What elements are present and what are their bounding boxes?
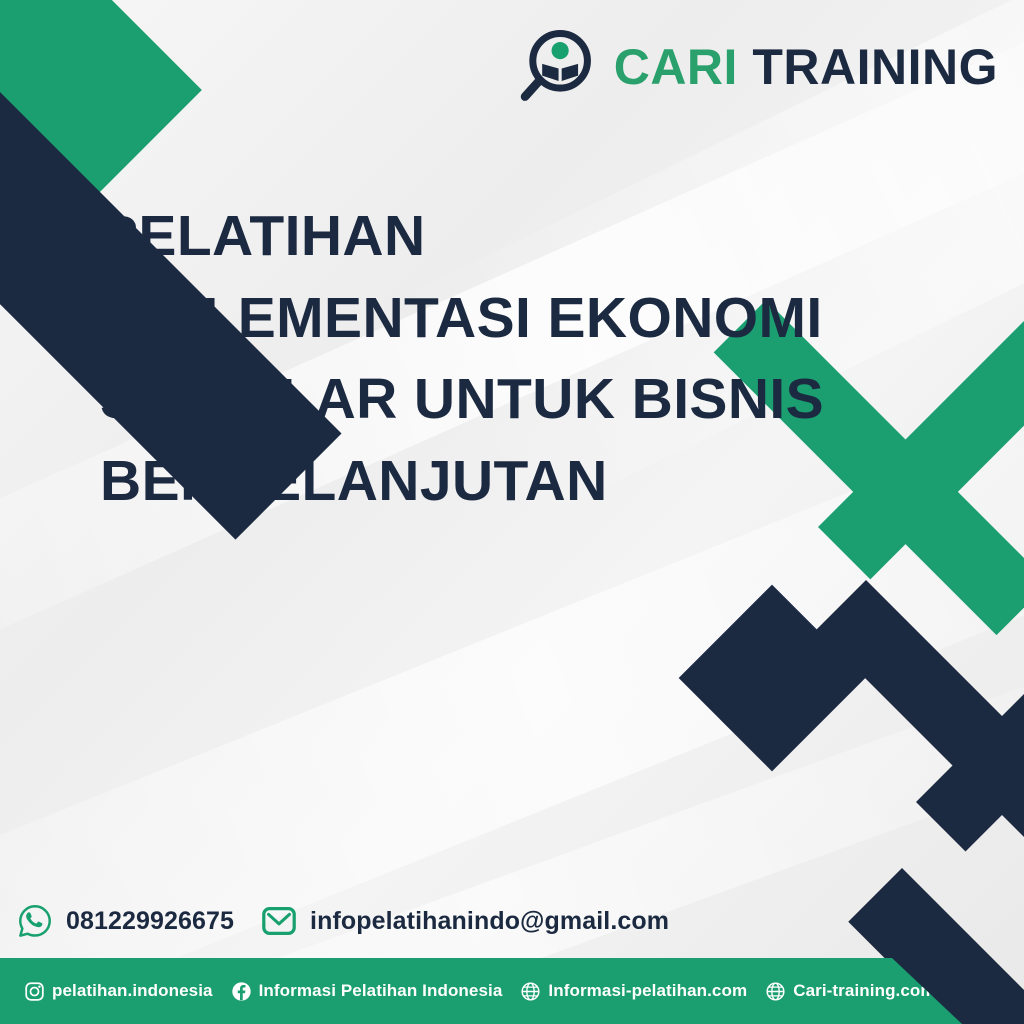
instagram-icon — [24, 981, 45, 1002]
footer-social-list: pelatihan.indonesia Informasi Pelatihan … — [0, 981, 936, 1002]
contact-email[interactable]: infopelatihanindo@gmail.com — [260, 902, 669, 940]
title-line-2: IMPLEMENTASI EKONOMI — [100, 278, 920, 360]
email-address: infopelatihanindo@gmail.com — [310, 907, 669, 936]
footer-bar: pelatihan.indonesia Informasi Pelatihan … — [0, 958, 1024, 1024]
poster-title: PELATIHAN IMPLEMENTASI EKONOMI SIRKULAR … — [100, 196, 920, 522]
globe-icon — [520, 981, 541, 1002]
website-1: Informasi-pelatihan.com — [548, 981, 747, 1001]
logo-word-cari: CARI — [614, 39, 738, 95]
footer-instagram[interactable]: pelatihan.indonesia — [24, 981, 213, 1002]
poster-canvas: CARI TRAINING PELATIHAN IMPLEMENTASI EKO… — [0, 0, 1024, 1024]
whatsapp-icon — [16, 902, 54, 940]
footer-website-2[interactable]: Cari-training.com — [765, 981, 935, 1002]
brand-logo: CARI TRAINING — [518, 28, 998, 106]
globe-icon — [765, 981, 786, 1002]
title-line-3: SIRKULAR UNTUK BISNIS — [100, 359, 920, 441]
title-line-1: PELATIHAN — [100, 196, 920, 278]
title-line-4: BERKELANJUTAN — [100, 441, 920, 523]
footer-website-1[interactable]: Informasi-pelatihan.com — [520, 981, 747, 1002]
footer-facebook[interactable]: Informasi Pelatihan Indonesia — [231, 981, 503, 1002]
facebook-page: Informasi Pelatihan Indonesia — [259, 981, 503, 1001]
logo-wordmark: CARI TRAINING — [614, 42, 998, 92]
contact-row: 081229926675 infopelatihanindo@gmail.com — [16, 902, 669, 940]
logo-word-training: TRAINING — [752, 39, 998, 95]
contact-whatsapp[interactable]: 081229926675 — [16, 902, 234, 940]
website-2: Cari-training.com — [793, 981, 935, 1001]
whatsapp-number: 081229926675 — [66, 907, 234, 936]
magnifier-book-logo-icon — [518, 28, 596, 106]
facebook-icon — [231, 981, 252, 1002]
instagram-handle: pelatihan.indonesia — [52, 981, 213, 1001]
email-icon — [260, 902, 298, 940]
